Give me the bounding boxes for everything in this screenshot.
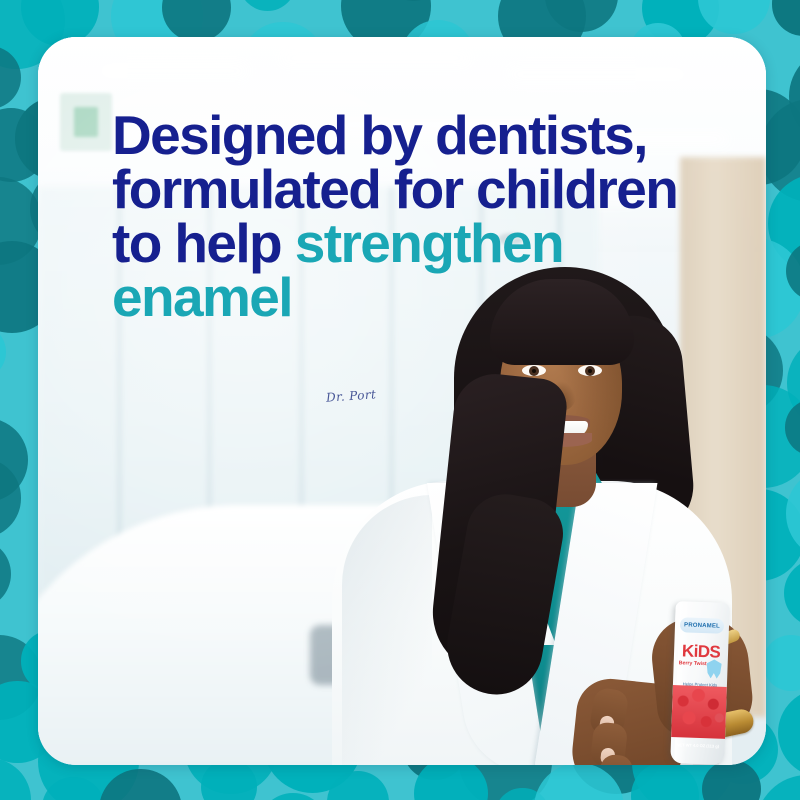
background-dot <box>756 775 800 800</box>
headline-line-3: to help strengthen <box>112 217 766 271</box>
advertisement-root: Dr. Port PRONAMEL KiDS Berry Twist Helps… <box>0 0 800 800</box>
background-dot <box>0 758 31 800</box>
background-dot <box>0 324 6 380</box>
background-dot <box>0 539 11 609</box>
background-dot <box>772 0 800 36</box>
lab-coat-shadow <box>342 495 432 765</box>
ceiling-light <box>508 67 688 82</box>
background-dot <box>778 689 800 777</box>
headline: Designed by dentists, formulated for chi… <box>112 109 766 325</box>
tube-brand-badge: PRONAMEL <box>680 617 724 634</box>
headline-line-3-accent: strengthen <box>295 212 563 274</box>
background-dot <box>258 793 329 800</box>
tube-brand-name: PRONAMEL <box>684 622 720 629</box>
headline-line-4: enamel <box>112 271 766 325</box>
toothpaste-tube: PRONAMEL KiDS Berry Twist Helps Protect … <box>670 601 730 765</box>
background-dot <box>763 635 800 691</box>
tube-berry-graphic <box>671 685 727 739</box>
exit-sign <box>60 93 112 151</box>
headline-line-1: Designed by dentists, <box>112 109 766 163</box>
headline-line-3-plain: to help <box>112 212 295 274</box>
eye-left <box>522 365 546 376</box>
photo-card: Dr. Port PRONAMEL KiDS Berry Twist Helps… <box>38 37 766 765</box>
tube-flavor-label: Berry Twist <box>679 661 707 668</box>
eye-right <box>578 365 602 376</box>
background-dot <box>239 0 297 11</box>
headline-line-2: formulated for children <box>112 163 766 217</box>
ceiling-light <box>280 51 470 65</box>
ceiling-light <box>98 63 248 79</box>
